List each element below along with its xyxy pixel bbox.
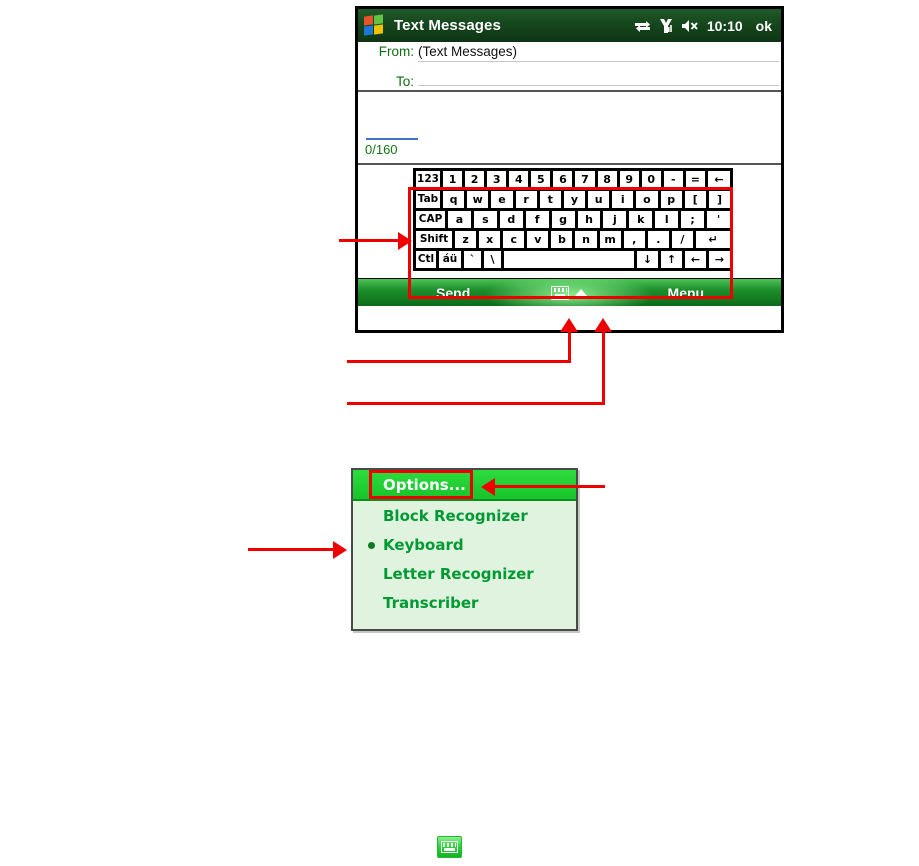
volume-mute-icon[interactable] (681, 19, 701, 33)
to-label: To: (364, 74, 418, 89)
ok-button[interactable]: ok (756, 18, 772, 34)
annotation-arrow-kbd-icon (560, 318, 578, 332)
from-value[interactable]: (Text Messages) (418, 42, 779, 62)
char-counter: 0/160 (365, 142, 398, 157)
title-bar: Text Messages (358, 9, 781, 42)
menu-item-transcriber[interactable]: Transcriber (353, 588, 576, 617)
annotation-arrow-options (481, 478, 495, 496)
annotation-box-keyboard (408, 187, 733, 299)
signal-icon[interactable] (659, 18, 673, 34)
page-root: Text Messages (0, 0, 919, 866)
annotation-line-caret (347, 402, 605, 405)
annotation-line-keyboard-item (248, 548, 336, 551)
annotation-line-options (495, 485, 605, 488)
from-row: From: (Text Messages) (358, 42, 781, 66)
menu-item-label: Letter Recognizer (383, 565, 534, 583)
menu-item-label: Keyboard (383, 536, 464, 554)
signature-divider (366, 138, 418, 140)
page-title: Text Messages (394, 17, 501, 34)
menu-item-keyboard[interactable]: Keyboard (353, 530, 576, 559)
from-label: From: (364, 44, 418, 59)
menu-item-block-recognizer[interactable]: Block Recognizer (353, 501, 576, 530)
annotation-box-options (369, 470, 473, 499)
annotation-line-keyboard (339, 239, 401, 242)
annotation-arrow-keyboard-item (333, 541, 347, 559)
keyboard-icon-green (437, 836, 462, 858)
menu-item-label: Block Recognizer (383, 507, 528, 525)
menu-item-label: Transcriber (383, 594, 478, 612)
message-body[interactable]: 0/160 (358, 92, 781, 165)
compose-header: From: (Text Messages) To: (358, 42, 781, 92)
to-row: To: (358, 66, 781, 90)
menu-item-letter-recognizer[interactable]: Letter Recognizer (353, 559, 576, 588)
selected-bullet-icon (368, 542, 375, 549)
annotation-arrow-keyboard (398, 232, 412, 250)
to-input[interactable] (418, 66, 779, 86)
annotation-stem-kbd-icon (568, 330, 571, 362)
annotation-line-kbd-icon (347, 360, 571, 363)
status-tray: 10:10 ok (634, 18, 781, 34)
annotation-stem-caret (602, 330, 605, 404)
clock: 10:10 (707, 18, 743, 34)
windows-flag-icon[interactable] (363, 15, 385, 36)
annotation-arrow-caret (594, 318, 612, 332)
connectivity-icon[interactable] (634, 19, 651, 33)
